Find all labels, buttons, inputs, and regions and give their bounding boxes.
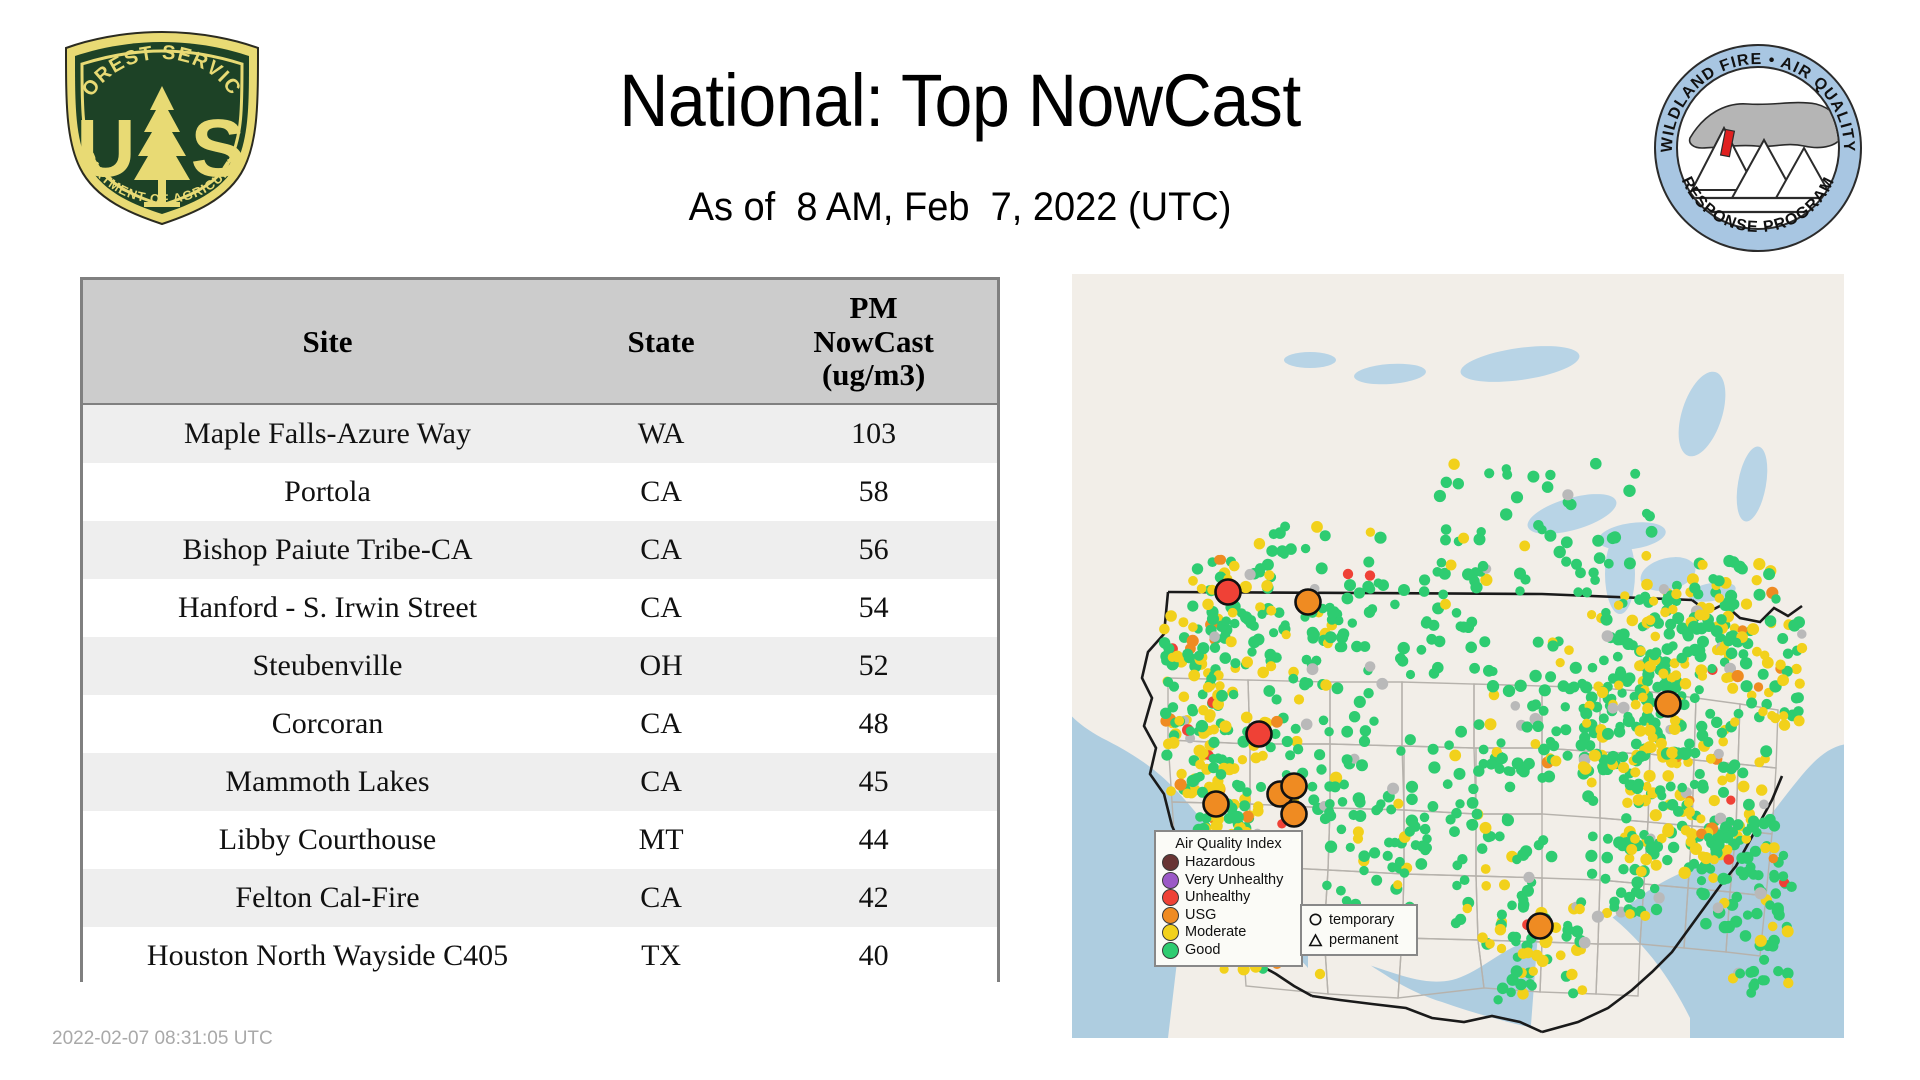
map-monitor-dot[interactable]	[1782, 968, 1794, 980]
map-monitor-dot[interactable]	[1588, 663, 1598, 673]
map-monitor-dot[interactable]	[1527, 471, 1539, 483]
map-monitor-dot[interactable]	[1771, 888, 1782, 899]
map-monitor-dot[interactable]	[1561, 536, 1573, 548]
map-monitor-dot[interactable]	[1561, 931, 1571, 941]
map-monitor-dot[interactable]	[1449, 826, 1460, 837]
map-monitor-dot[interactable]	[1539, 684, 1551, 696]
map-monitor-dot[interactable]	[1472, 809, 1483, 820]
map-monitor-dot[interactable]	[1327, 608, 1338, 619]
map-monitor-dot[interactable]	[1636, 646, 1646, 656]
map-monitor-dot[interactable]	[1626, 844, 1637, 855]
map-monitor-dot[interactable]	[1735, 969, 1745, 979]
map-monitor-dot[interactable]	[1360, 641, 1371, 652]
map-monitor-dot[interactable]	[1649, 650, 1659, 660]
map-monitor-dot[interactable]	[1614, 726, 1626, 738]
map-monitor-dot[interactable]	[1343, 569, 1353, 579]
map-monitor-dot[interactable]	[1428, 744, 1439, 755]
map-monitor-dot[interactable]	[1415, 858, 1427, 870]
map-monitor-dot[interactable]	[1316, 764, 1326, 774]
map-monitor-dot[interactable]	[1689, 583, 1700, 594]
map-monitor-dot[interactable]	[1748, 816, 1759, 827]
map-monitor-dot[interactable]	[1643, 703, 1653, 713]
map-monitor-dot[interactable]	[1511, 932, 1521, 942]
map-monitor-dot[interactable]	[1359, 736, 1370, 747]
map-monitor-dot[interactable]	[1338, 797, 1348, 807]
map-monitor-dot[interactable]	[1640, 911, 1650, 921]
map-monitor-dot[interactable]	[1751, 908, 1762, 919]
map-monitor-dot[interactable]	[1369, 847, 1380, 858]
map-monitor-dot[interactable]	[1159, 637, 1170, 648]
map-monitor-dot[interactable]	[1746, 698, 1757, 709]
map-monitor-dot[interactable]	[1724, 854, 1735, 865]
map-monitor-dot[interactable]	[1573, 587, 1583, 597]
map-monitor-dot[interactable]	[1644, 770, 1656, 782]
map-monitor-dot[interactable]	[1443, 779, 1453, 789]
map-monitor-dot[interactable]	[1511, 965, 1523, 977]
map-monitor-dot[interactable]	[1161, 750, 1172, 761]
map-monitor-dot[interactable]	[1797, 643, 1807, 653]
map-monitor-dot[interactable]	[1753, 558, 1765, 570]
map-monitor-dot[interactable]	[1658, 801, 1668, 811]
map-monitor-dot[interactable]	[1419, 586, 1430, 597]
map-monitor-dot[interactable]	[1733, 819, 1744, 830]
map-monitor-dot[interactable]	[1280, 550, 1289, 559]
map-monitor-dot[interactable]	[1791, 664, 1801, 674]
map-monitor-dot[interactable]	[1723, 636, 1734, 647]
map-monitor-dot[interactable]	[1730, 916, 1742, 928]
map-monitor-dot[interactable]	[1703, 737, 1713, 747]
map-monitor-dot[interactable]	[1428, 801, 1439, 812]
map-monitor-dot[interactable]	[1627, 615, 1639, 627]
map-monitor-dot[interactable]	[1481, 881, 1491, 891]
map-monitor-dot[interactable]	[1585, 850, 1597, 862]
map-monitor-dot[interactable]	[1228, 608, 1238, 618]
map-monitor-dot[interactable]	[1168, 737, 1180, 749]
map-monitor-dot[interactable]	[1723, 596, 1733, 606]
map-monitor-dot[interactable]	[1645, 511, 1655, 521]
map-monitor-dot[interactable]	[1406, 815, 1418, 827]
map-monitor-dot[interactable]	[1592, 911, 1604, 923]
map-monitor-dot[interactable]	[1188, 670, 1200, 682]
map-monitor-dot[interactable]	[1166, 786, 1176, 796]
map-monitor-dot[interactable]	[1432, 662, 1444, 674]
map-monitor-dot[interactable]	[1564, 683, 1575, 694]
map-monitor-dot[interactable]	[1754, 757, 1764, 767]
map-monitor-dot[interactable]	[1630, 767, 1640, 777]
map-monitor-dot[interactable]	[1736, 852, 1748, 864]
map-monitor-dot[interactable]	[1708, 873, 1718, 883]
map-monitor-dot[interactable]	[1453, 478, 1464, 489]
map-monitor-dot[interactable]	[1452, 881, 1461, 890]
map-monitor-dot[interactable]	[1743, 827, 1752, 836]
map-monitor-dot[interactable]	[1665, 619, 1676, 630]
map-monitor-dot[interactable]	[1354, 810, 1366, 822]
map-monitor-dot[interactable]	[1664, 628, 1675, 639]
map-monitor-dot[interactable]	[1544, 530, 1556, 542]
map-monitor-dot[interactable]	[1495, 831, 1505, 841]
map-monitor-dot[interactable]	[1497, 910, 1507, 920]
map-monitor-dot[interactable]	[1337, 825, 1347, 835]
map-monitor-dot[interactable]	[1348, 618, 1357, 627]
map-monitor-dot[interactable]	[1589, 750, 1601, 762]
map-monitor-dot[interactable]	[1651, 632, 1661, 642]
map-monitor-dot[interactable]	[1788, 619, 1800, 631]
map-monitor-dot[interactable]	[1711, 625, 1723, 637]
map-monitor-dot[interactable]	[1668, 641, 1677, 650]
map-monitor-dot[interactable]	[1667, 799, 1679, 811]
map-monitor-dot[interactable]	[1779, 711, 1788, 720]
map-monitor-dot[interactable]	[1374, 578, 1383, 587]
map-monitor-dot[interactable]	[1719, 921, 1731, 933]
map-monitor-dot[interactable]	[1281, 620, 1290, 629]
map-monitor-dot[interactable]	[1698, 888, 1710, 900]
map-monitor-dot[interactable]	[1400, 868, 1410, 878]
map-monitor-dot[interactable]	[1777, 674, 1789, 686]
map-monitor-dot[interactable]	[1758, 817, 1770, 829]
map-monitor-dot[interactable]	[1458, 533, 1469, 544]
map-monitor-dot[interactable]	[1500, 508, 1512, 520]
map-monitor-dot[interactable]	[1608, 703, 1619, 714]
map-monitor-dot[interactable]	[1451, 808, 1462, 819]
map-monitor-dot[interactable]	[1441, 477, 1452, 488]
map-monitor-dot[interactable]	[1204, 709, 1215, 720]
map-monitor-dot[interactable]	[1383, 851, 1393, 861]
map-monitor-dot[interactable]	[1529, 670, 1541, 682]
map-monitor-dot[interactable]	[1507, 901, 1517, 911]
map-monitor-dot[interactable]	[1485, 718, 1497, 730]
map-monitor-dot[interactable]	[1257, 610, 1266, 619]
map-monitor-dot[interactable]	[1240, 611, 1252, 623]
map-monitor-dot[interactable]	[1197, 584, 1207, 594]
map-monitor-dot[interactable]	[1638, 693, 1648, 703]
map-monitor-dot[interactable]	[1758, 975, 1768, 985]
map-monitor-dot[interactable]	[1531, 739, 1541, 749]
map-monitor-dot[interactable]	[1342, 593, 1354, 605]
map-monitor-dot[interactable]	[1174, 716, 1184, 726]
map-monitor-dot[interactable]	[1754, 682, 1763, 691]
map-monitor-dot[interactable]	[1354, 797, 1365, 808]
map-monitor-dot[interactable]	[1570, 662, 1582, 674]
map-monitor-dot[interactable]	[1561, 557, 1571, 567]
map-monitor-dot[interactable]	[1602, 728, 1614, 740]
map-monitor-dot[interactable]	[1473, 765, 1484, 776]
map-monitor-dot[interactable]	[1369, 717, 1378, 726]
map-monitor-dot[interactable]	[1241, 712, 1253, 724]
map-monitor-dot[interactable]	[1529, 967, 1538, 976]
map-monitor-dot[interactable]	[1239, 800, 1250, 811]
map-monitor-dot[interactable]	[1320, 530, 1331, 541]
map-monitor-dot[interactable]	[1247, 647, 1256, 656]
map-monitor-dot[interactable]	[1523, 758, 1535, 770]
map-monitor-dot[interactable]	[1506, 988, 1516, 998]
map-monitor-dot[interactable]	[1624, 557, 1636, 569]
map-monitor-dot[interactable]	[1715, 593, 1724, 602]
map-monitor-dot[interactable]	[1395, 857, 1405, 867]
map-monitor-dot[interactable]	[1216, 555, 1226, 565]
map-monitor-dot[interactable]	[1324, 807, 1334, 817]
map-monitor-dot[interactable]	[1178, 617, 1188, 627]
map-monitor-dot[interactable]	[1188, 576, 1198, 586]
map-monitor-dot[interactable]	[1395, 653, 1406, 664]
map-monitor-dot[interactable]	[1376, 678, 1388, 690]
map-monitor-dot[interactable]	[1518, 902, 1529, 913]
map-monitor-dot[interactable]	[1216, 769, 1227, 780]
map-monitor-dot[interactable]	[1537, 773, 1547, 783]
map-monitor-dot[interactable]	[1455, 726, 1467, 738]
map-monitor-dot[interactable]	[1630, 469, 1640, 479]
map-monitor-dot[interactable]	[1613, 652, 1623, 662]
map-monitor-dot[interactable]	[1587, 610, 1596, 619]
map-monitor-dot[interactable]	[1679, 867, 1691, 879]
map-monitor-dot[interactable]	[1221, 616, 1231, 626]
map-monitor-dot[interactable]	[1465, 642, 1477, 654]
map-monitor-dot[interactable]	[1765, 900, 1775, 910]
map-monitor-dot[interactable]	[1466, 819, 1476, 829]
map-monitor-dot[interactable]	[1188, 706, 1199, 717]
map-monitor-dot[interactable]	[1688, 621, 1700, 633]
map-monitor-dot[interactable]	[1454, 768, 1466, 780]
map-monitor-dot[interactable]	[1446, 560, 1457, 571]
map-monitor-dot[interactable]	[1713, 839, 1724, 850]
map-monitor-dot[interactable]	[1630, 834, 1640, 844]
map-monitor-dot[interactable]	[1495, 764, 1505, 774]
map-monitor-dot[interactable]	[1444, 740, 1454, 750]
map-monitor-dot[interactable]	[1209, 631, 1220, 642]
map-monitor-dot[interactable]	[1631, 700, 1641, 710]
map-monitor-dot[interactable]	[1705, 709, 1715, 719]
map-monitor-dot[interactable]	[1307, 663, 1319, 675]
map-monitor-dot[interactable]	[1336, 886, 1346, 896]
map-monitor-dot[interactable]	[1783, 649, 1793, 659]
map-monitor-dot[interactable]	[1470, 581, 1482, 593]
map-monitor-dot[interactable]	[1374, 532, 1386, 544]
map-monitor-dot[interactable]	[1718, 737, 1728, 747]
map-monitor-dot[interactable]	[1563, 921, 1572, 930]
map-monitor-dot[interactable]	[1319, 716, 1329, 726]
map-monitor-dot[interactable]	[1460, 875, 1470, 885]
map-monitor-dot[interactable]	[1726, 796, 1735, 805]
map-monitor-dot[interactable]	[1548, 740, 1559, 751]
map-monitor-dot[interactable]	[1469, 663, 1480, 674]
map-monitor-dot[interactable]	[1777, 633, 1788, 644]
map-monitor-dot[interactable]	[1614, 681, 1623, 690]
map-monitor-dot[interactable]	[1587, 869, 1597, 879]
map-monitor-dot[interactable]	[1600, 614, 1612, 626]
map-monitor-dot[interactable]	[1440, 599, 1451, 610]
map-monitor-dot[interactable]	[1625, 854, 1635, 864]
map-monitor-dot[interactable]	[1710, 855, 1719, 864]
map-monitor-dot[interactable]	[1738, 649, 1748, 659]
map-monitor-dot[interactable]	[1615, 666, 1625, 676]
map-monitor-dot[interactable]	[1159, 624, 1170, 635]
map-monitor-dot[interactable]	[1301, 719, 1313, 731]
map-monitor-dot[interactable]	[1671, 589, 1681, 599]
map-monitor-dot[interactable]	[1182, 789, 1192, 799]
map-top-site-marker[interactable]	[1282, 802, 1307, 827]
map-monitor-dot[interactable]	[1622, 798, 1632, 808]
map-monitor-dot[interactable]	[1208, 737, 1219, 748]
map-monitor-dot[interactable]	[1662, 855, 1672, 865]
map-monitor-dot[interactable]	[1649, 597, 1658, 606]
map-monitor-dot[interactable]	[1769, 854, 1778, 863]
map-monitor-dot[interactable]	[1393, 880, 1402, 889]
map-monitor-dot[interactable]	[1294, 694, 1304, 704]
map-monitor-dot[interactable]	[1771, 594, 1780, 603]
map-monitor-dot[interactable]	[1346, 843, 1355, 852]
map-monitor-dot[interactable]	[1624, 892, 1635, 903]
map-monitor-dot[interactable]	[1315, 969, 1325, 979]
map-monitor-dot[interactable]	[1215, 681, 1225, 691]
map-monitor-dot[interactable]	[1690, 780, 1699, 789]
map-monitor-dot[interactable]	[1175, 779, 1187, 791]
map-monitor-dot[interactable]	[1514, 568, 1526, 580]
map-monitor-dot[interactable]	[1696, 721, 1707, 732]
map-monitor-dot[interactable]	[1220, 652, 1232, 664]
map-monitor-dot[interactable]	[1266, 606, 1276, 616]
map-monitor-dot[interactable]	[1633, 794, 1645, 806]
map-monitor-dot[interactable]	[1560, 724, 1571, 735]
map-monitor-dot[interactable]	[1597, 687, 1608, 698]
map-monitor-dot[interactable]	[1393, 799, 1403, 809]
map-monitor-dot[interactable]	[1325, 632, 1334, 641]
map-monitor-dot[interactable]	[1203, 682, 1214, 693]
map-monitor-dot[interactable]	[1671, 670, 1681, 680]
map-monitor-dot[interactable]	[1711, 717, 1722, 728]
map-monitor-dot[interactable]	[1779, 719, 1790, 730]
map-monitor-dot[interactable]	[1696, 864, 1707, 875]
map-monitor-dot[interactable]	[1234, 781, 1245, 792]
map-monitor-dot[interactable]	[1271, 716, 1283, 728]
map-monitor-dot[interactable]	[1741, 599, 1752, 610]
map-monitor-dot[interactable]	[1732, 892, 1743, 903]
map-monitor-dot[interactable]	[1663, 823, 1674, 834]
map-monitor-dot[interactable]	[1468, 784, 1478, 794]
map-monitor-dot[interactable]	[1342, 754, 1353, 765]
map-monitor-dot[interactable]	[1187, 635, 1199, 647]
map-monitor-dot[interactable]	[1734, 709, 1744, 719]
map-monitor-dot[interactable]	[1527, 701, 1538, 712]
map-monitor-dot[interactable]	[1551, 726, 1561, 736]
map-monitor-dot[interactable]	[1755, 887, 1767, 899]
map-monitor-dot[interactable]	[1546, 851, 1558, 863]
map-monitor-dot[interactable]	[1440, 535, 1451, 546]
map-top-site-marker[interactable]	[1528, 914, 1553, 939]
map-monitor-dot[interactable]	[1644, 661, 1656, 673]
map-monitor-dot[interactable]	[1324, 727, 1333, 736]
map-monitor-dot[interactable]	[1695, 769, 1705, 779]
map-monitor-dot[interactable]	[1420, 824, 1431, 835]
map-monitor-dot[interactable]	[1282, 736, 1293, 747]
map-monitor-dot[interactable]	[1282, 630, 1291, 639]
map-monitor-dot[interactable]	[1684, 798, 1693, 807]
map-monitor-dot[interactable]	[1511, 491, 1523, 503]
map-top-site-marker[interactable]	[1204, 792, 1229, 817]
map-monitor-dot[interactable]	[1226, 636, 1237, 647]
map-monitor-dot[interactable]	[1533, 637, 1544, 648]
map-monitor-dot[interactable]	[1650, 884, 1659, 893]
map-monitor-dot[interactable]	[1422, 616, 1432, 626]
national-aqi-map[interactable]: Air Quality Index HazardousVery Unhealth…	[1072, 274, 1844, 1038]
map-monitor-dot[interactable]	[1238, 755, 1247, 764]
map-monitor-dot[interactable]	[1645, 615, 1655, 625]
map-monitor-dot[interactable]	[1566, 969, 1577, 980]
map-monitor-dot[interactable]	[1452, 860, 1462, 870]
map-monitor-dot[interactable]	[1793, 706, 1803, 716]
map-monitor-dot[interactable]	[1163, 677, 1173, 687]
map-monitor-dot[interactable]	[1662, 770, 1674, 782]
map-monitor-dot[interactable]	[1493, 995, 1502, 1004]
map-monitor-dot[interactable]	[1754, 589, 1766, 601]
map-monitor-dot[interactable]	[1187, 601, 1198, 612]
map-monitor-dot[interactable]	[1363, 557, 1374, 568]
map-monitor-dot[interactable]	[1484, 468, 1494, 478]
map-monitor-dot[interactable]	[1499, 879, 1510, 890]
map-monitor-dot[interactable]	[1765, 615, 1777, 627]
map-monitor-dot[interactable]	[1165, 610, 1177, 622]
map-monitor-dot[interactable]	[1721, 673, 1731, 683]
map-monitor-dot[interactable]	[1599, 713, 1609, 723]
map-monitor-dot[interactable]	[1405, 734, 1416, 745]
map-monitor-dot[interactable]	[1477, 843, 1488, 854]
map-monitor-dot[interactable]	[1756, 784, 1767, 795]
map-monitor-dot[interactable]	[1769, 842, 1780, 853]
map-monitor-dot[interactable]	[1522, 721, 1533, 732]
map-monitor-dot[interactable]	[1686, 837, 1696, 847]
map-monitor-dot[interactable]	[1778, 871, 1788, 881]
map-monitor-dot[interactable]	[1417, 841, 1429, 853]
map-monitor-dot[interactable]	[1354, 696, 1366, 708]
map-monitor-dot[interactable]	[1760, 745, 1772, 757]
map-monitor-dot[interactable]	[1467, 797, 1479, 809]
map-monitor-dot[interactable]	[1709, 795, 1720, 806]
map-monitor-dot[interactable]	[1255, 563, 1266, 574]
map-monitor-dot[interactable]	[1187, 775, 1199, 787]
map-monitor-dot[interactable]	[1216, 690, 1228, 702]
map-monitor-dot[interactable]	[1677, 783, 1687, 793]
map-monitor-dot[interactable]	[1594, 552, 1606, 564]
map-monitor-dot[interactable]	[1545, 671, 1556, 682]
map-monitor-dot[interactable]	[1481, 864, 1491, 874]
map-monitor-dot[interactable]	[1254, 538, 1265, 549]
map-monitor-dot[interactable]	[1230, 619, 1240, 629]
map-monitor-dot[interactable]	[1176, 769, 1186, 779]
map-monitor-dot[interactable]	[1740, 657, 1752, 669]
map-monitor-dot[interactable]	[1640, 854, 1652, 866]
map-monitor-dot[interactable]	[1387, 783, 1399, 795]
map-monitor-dot[interactable]	[1690, 693, 1700, 703]
map-monitor-dot[interactable]	[1519, 541, 1530, 552]
map-monitor-dot[interactable]	[1537, 955, 1549, 967]
map-monitor-dot[interactable]	[1420, 813, 1430, 823]
map-monitor-dot[interactable]	[1697, 876, 1706, 885]
map-monitor-dot[interactable]	[1202, 599, 1213, 610]
map-monitor-dot[interactable]	[1677, 748, 1688, 759]
map-monitor-dot[interactable]	[1307, 632, 1318, 643]
map-monitor-dot[interactable]	[1726, 648, 1738, 660]
map-monitor-dot[interactable]	[1576, 739, 1588, 751]
map-monitor-dot[interactable]	[1293, 744, 1303, 754]
map-monitor-dot[interactable]	[1618, 864, 1628, 874]
map-monitor-dot[interactable]	[1325, 841, 1337, 853]
map-monitor-dot[interactable]	[1192, 563, 1203, 574]
map-monitor-dot[interactable]	[1182, 649, 1193, 660]
map-monitor-dot[interactable]	[1697, 636, 1709, 648]
map-monitor-dot[interactable]	[1406, 794, 1418, 806]
map-monitor-dot[interactable]	[1272, 694, 1282, 704]
map-monitor-dot[interactable]	[1641, 579, 1653, 591]
map-monitor-dot[interactable]	[1609, 902, 1619, 912]
map-monitor-dot[interactable]	[1578, 761, 1589, 772]
